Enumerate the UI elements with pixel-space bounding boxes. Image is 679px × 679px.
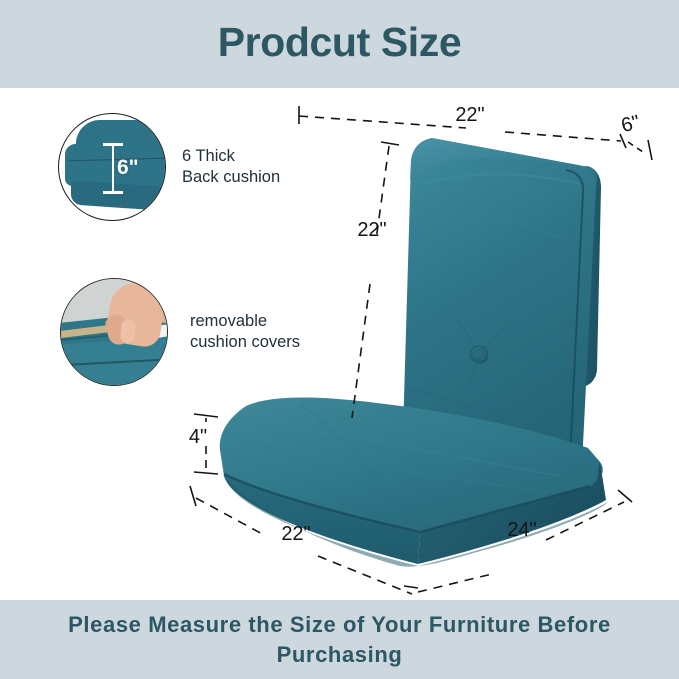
tick-seat-depth-start [190,486,196,506]
footer-banner: Please Measure the Size of Your Furnitur… [0,600,679,679]
tick-seat-thickness-bottom [194,472,218,474]
tick-seat-depth-end [404,586,418,588]
header-banner: Prodcut Size [0,0,679,88]
label-back-width: 22" [455,104,484,126]
infographic-page: Prodcut Size 6" 6 Thick Back cushion [0,0,679,679]
label-seat-depth: 22" [281,523,310,545]
tick-seat-width-end [618,490,632,502]
tick-back-depth-right [648,140,652,160]
label-back-depth: 6" [619,111,642,137]
page-title: Prodcut Size [218,22,462,67]
footer-line-1: Please Measure the Size of Your Furnitur… [68,610,611,639]
label-seat-width: 24" [507,519,536,541]
tick-seat-thickness-top [194,414,218,417]
footer-line-2: Purchasing [277,640,403,669]
label-seat-thickness: 4" [189,426,207,448]
label-back-height: 22" [357,219,386,241]
product-illustration: 22" 6" 22" 4" 22" 24" [0,88,679,600]
tick-back-height-top [381,142,399,145]
